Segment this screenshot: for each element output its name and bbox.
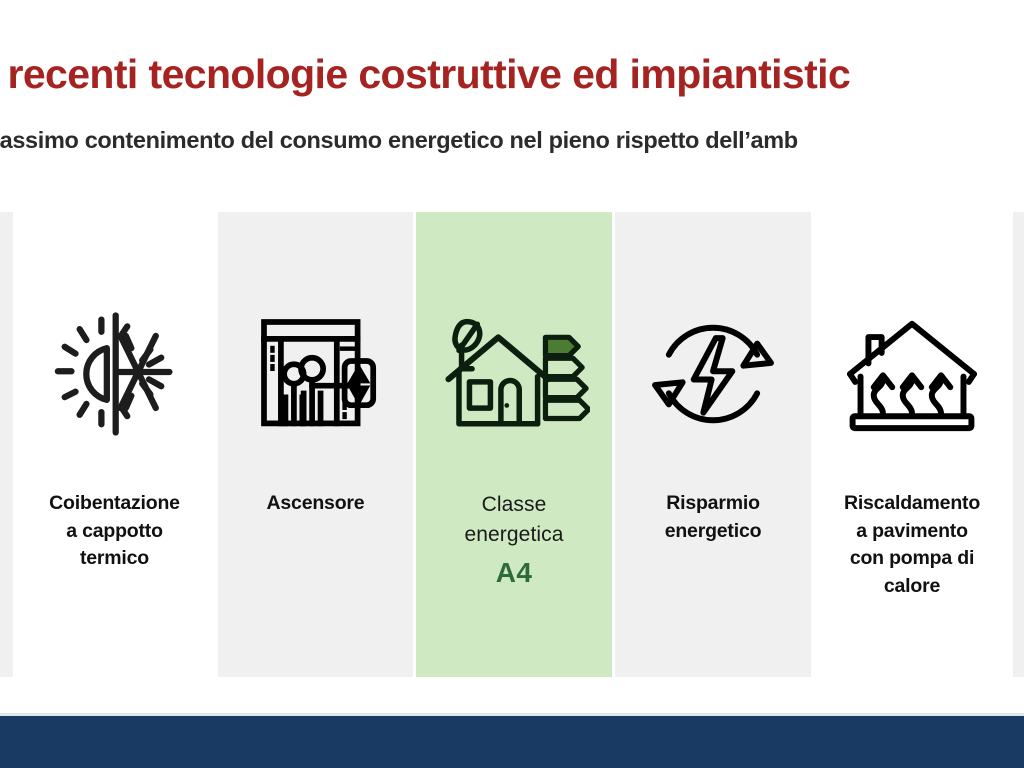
feature-card-elevator[interactable]: Ascensore [218,212,413,677]
header-region: più recenti tecnologie costruttive ed im… [0,0,1024,200]
feature-card-label: Classe energetica [416,490,612,550]
elevator-icon [218,304,413,444]
underfloor-heating-house-icon [814,304,1010,444]
feature-card-label: Ascensore [218,490,413,518]
feature-card-label: Riscaldamento a pavimento con pompa di c… [814,490,1010,601]
feature-card-insulation[interactable]: Coibentazione a cappotto termico [17,212,212,677]
feature-card-energy-saving[interactable]: Risparmio energetico [615,212,811,677]
feature-card-partial-left[interactable] [0,212,13,677]
feature-card-row: Coibentazione a cappotto termico [0,212,1024,677]
energy-class-badge: A4 [416,557,612,589]
energy-saving-bolt-icon [615,304,811,444]
feature-card-label: Risparmio energetico [615,490,811,545]
feature-card-label: Coibentazione a cappotto termico [17,490,212,573]
sun-snowflake-icon [17,304,212,444]
feature-card-partial-right[interactable] [1013,212,1024,677]
energy-class-house-icon [416,304,612,444]
footer-bar [0,716,1024,768]
feature-card-underfloor-heating[interactable]: Riscaldamento a pavimento con pompa di c… [814,212,1010,677]
page-title: più recenti tecnologie costruttive ed im… [0,52,850,98]
feature-card-energy-class[interactable]: Classe energetica A4 [416,212,612,677]
page-subtitle: al massimo contenimento del consumo ener… [0,126,798,154]
